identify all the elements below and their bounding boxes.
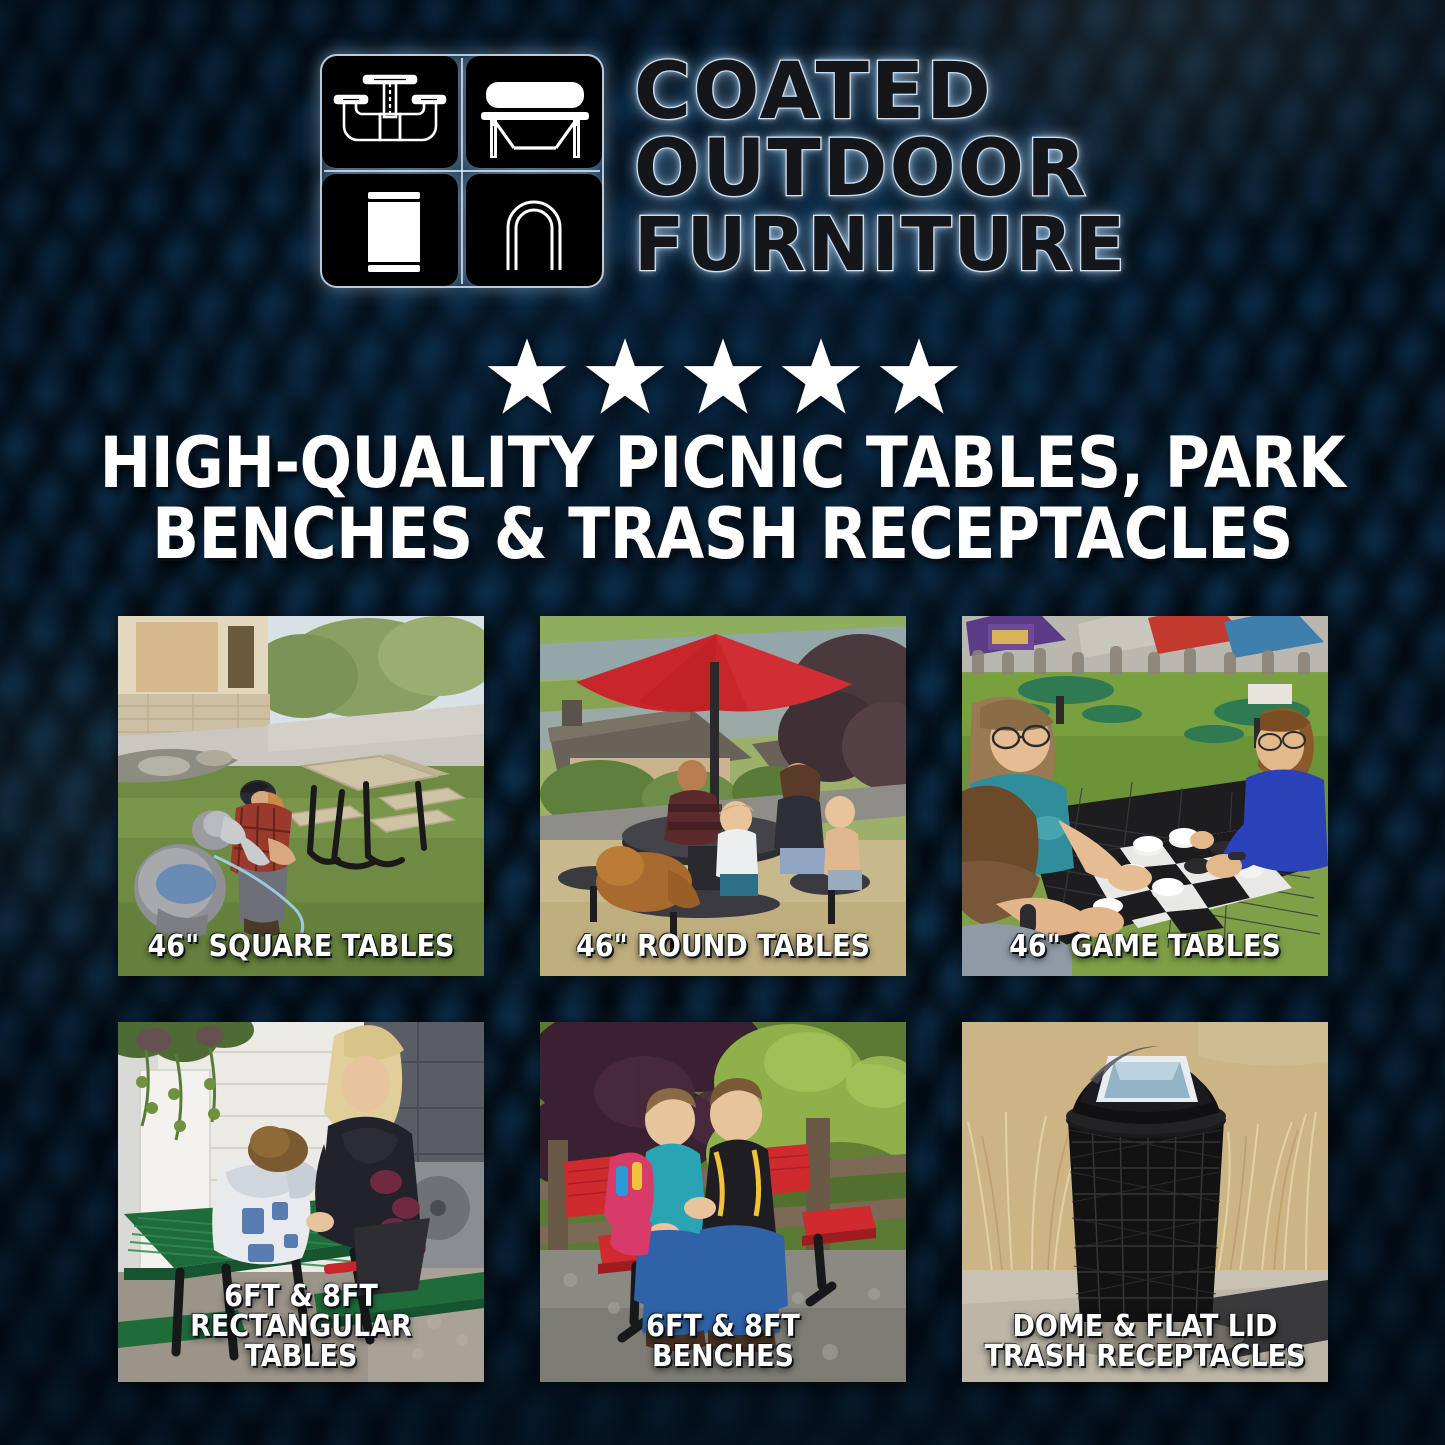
product-caption: 46" ROUND TABLES (558, 932, 887, 962)
product-caption: 46" SQUARE TABLES (136, 932, 465, 962)
product-tile-game-tables[interactable]: 46" GAME TABLES (962, 616, 1328, 976)
brand-wordmark: COATED OUTDOOR FURNITURE (634, 52, 1127, 280)
product-tile-benches[interactable]: 6FT & 8FT BENCHES (540, 1022, 906, 1382)
product-caption: 6FT & 8FT RECTANGULAR TABLES (136, 1282, 465, 1372)
star-rating (0, 336, 1445, 416)
product-photo-game-tables (962, 616, 1328, 976)
product-tile-trash-receptacles[interactable]: DOME & FLAT LID TRASH RECEPTACLES (962, 1022, 1328, 1382)
brand-line-3: FURNITURE (634, 211, 1127, 281)
brand-logo-mark (318, 52, 606, 290)
brand-header: COATED OUTDOOR FURNITURE (0, 52, 1445, 290)
product-caption-line-2: RECTANGULAR TABLES (136, 1312, 465, 1372)
product-grid: 46" SQUARE TABLES (118, 616, 1328, 1382)
page-title: HIGH-QUALITY PICNIC TABLES, PARK BENCHES… (87, 428, 1359, 571)
product-caption-line-2: TRASH RECEPTACLES (980, 1342, 1309, 1372)
headline-line-2: BENCHES & TRASH RECEPTACLES (87, 499, 1359, 570)
product-caption-line-1: 6FT & 8FT (136, 1282, 465, 1312)
star-icon (486, 336, 568, 416)
product-tile-square-tables[interactable]: 46" SQUARE TABLES (118, 616, 484, 976)
star-icon (878, 336, 960, 416)
star-icon (682, 336, 764, 416)
product-caption-line-1: DOME & FLAT LID (980, 1312, 1309, 1342)
product-photo-round-tables (540, 616, 906, 976)
brand-line-1: COATED (634, 56, 1127, 129)
product-caption: 6FT & 8FT BENCHES (558, 1312, 887, 1372)
headline-line-1: HIGH-QUALITY PICNIC TABLES, PARK (87, 428, 1359, 499)
product-caption-line-1: 6FT & 8FT (558, 1312, 887, 1342)
trash-receptacle-icon (368, 192, 420, 272)
product-caption-line-1: 46" ROUND TABLES (558, 932, 887, 962)
product-caption: DOME & FLAT LID TRASH RECEPTACLES (980, 1312, 1309, 1372)
product-caption: 46" GAME TABLES (980, 932, 1309, 962)
brand-line-2: OUTDOOR (634, 133, 1127, 206)
product-tile-rectangular-tables[interactable]: 6FT & 8FT RECTANGULAR TABLES (118, 1022, 484, 1382)
product-tile-round-tables[interactable]: 46" ROUND TABLES (540, 616, 906, 976)
promotional-poster: COATED OUTDOOR FURNITURE HIGH-QUALITY PI… (0, 0, 1445, 1445)
product-caption-line-1: 46" SQUARE TABLES (136, 932, 465, 962)
product-caption-line-2: BENCHES (558, 1342, 887, 1372)
star-icon (780, 336, 862, 416)
product-caption-line-1: 46" GAME TABLES (980, 932, 1309, 962)
product-photo-square-tables (118, 616, 484, 976)
star-icon (584, 336, 666, 416)
